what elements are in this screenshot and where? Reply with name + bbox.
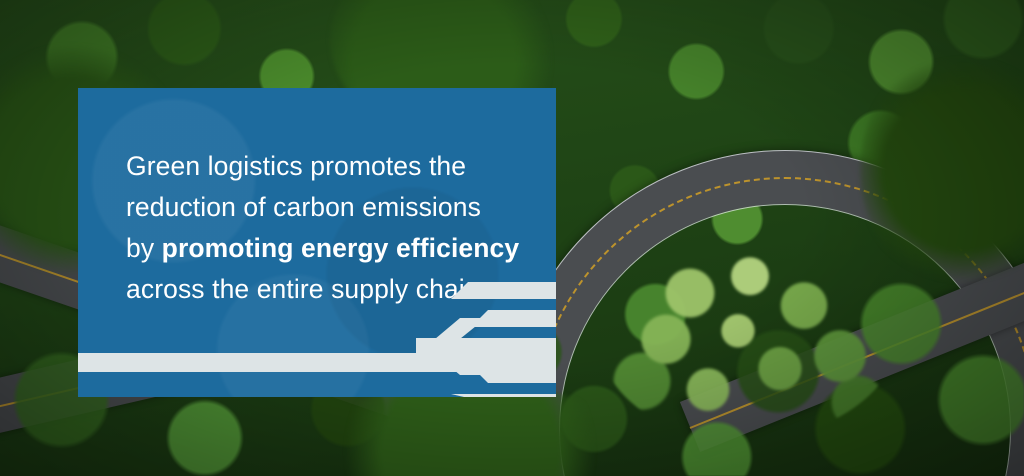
- quote-line-1: Green logistics promotes the: [126, 151, 466, 181]
- banner-stage: Green logistics promotes the reduction o…: [0, 0, 1024, 476]
- left-arrow-speed-lines-icon: [416, 282, 556, 397]
- quote-line-3: by promoting energy efficiency: [126, 233, 519, 263]
- quote-line-2: reduction of carbon emissions: [126, 192, 481, 222]
- quote-line-3-prefix: by: [126, 233, 162, 263]
- quote-card: Green logistics promotes the reduction o…: [78, 88, 556, 397]
- quote-line-3-emphasis: promoting energy efficiency: [162, 233, 520, 263]
